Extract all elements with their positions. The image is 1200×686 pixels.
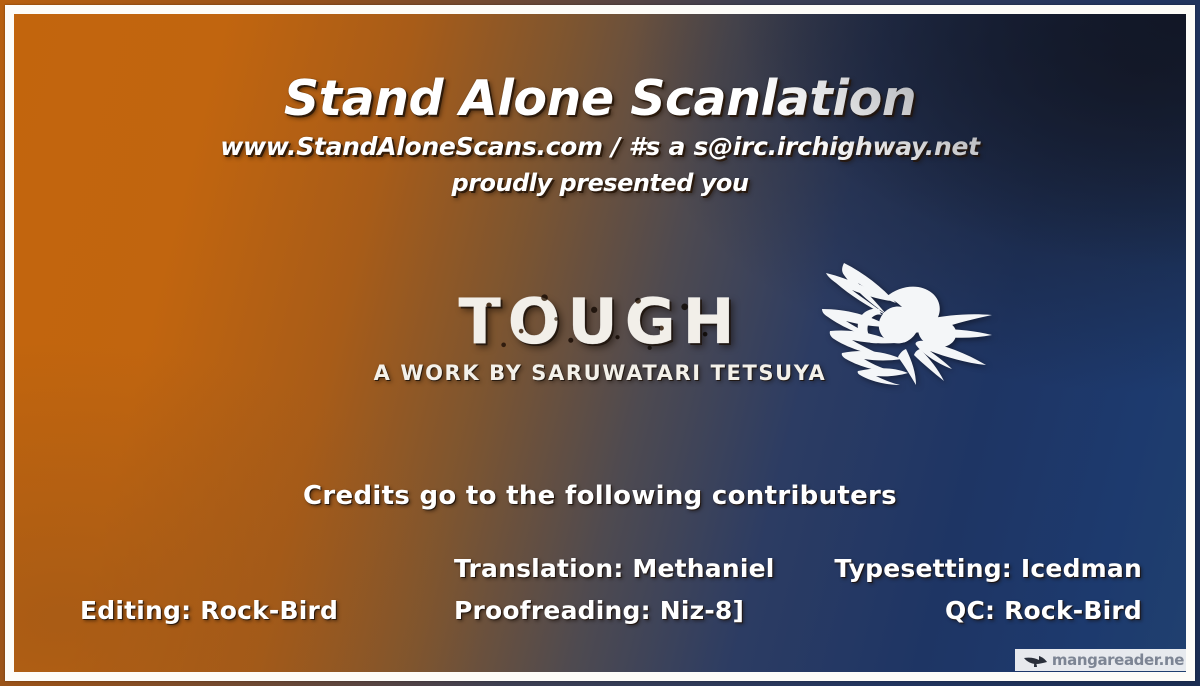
work-title: TOUGH	[458, 290, 741, 354]
site-watermark: mangareader.ne	[1015, 649, 1186, 671]
work-title-block: TOUGH A WORK BY SARUWATARI TETSUYA	[14, 290, 1186, 386]
credit-proofreading: Proofreading: Niz-8]	[454, 596, 744, 626]
work-title-text: TOUGH	[458, 285, 741, 358]
credit-translation: Translation: Methaniel	[454, 554, 775, 584]
group-name: Stand Alone Scanlation	[14, 70, 1186, 128]
group-urls: www.StandAloneScans.com / #s a s@irc.irc…	[14, 128, 1186, 166]
scanlation-credits-page: Stand Alone Scanlation www.StandAloneSca…	[0, 0, 1200, 686]
bird-logo-icon	[1023, 652, 1049, 668]
watermark-text: mangareader.ne	[1052, 651, 1184, 669]
credits-heading: Credits go to the following contributers	[14, 480, 1186, 512]
group-tagline: proudly presented you	[14, 166, 1186, 200]
credit-typesetting: Typesetting: Icedman	[834, 554, 1142, 584]
credits-grid: Editing: Rock-Bird Translation: Methanie…	[58, 548, 1156, 644]
artwork-canvas: Stand Alone Scanlation www.StandAloneSca…	[14, 14, 1186, 672]
work-author-line: A WORK BY SARUWATARI TETSUYA	[14, 360, 1186, 386]
credit-qc: QC: Rock-Bird	[945, 596, 1142, 626]
credit-editing: Editing: Rock-Bird	[80, 596, 338, 626]
